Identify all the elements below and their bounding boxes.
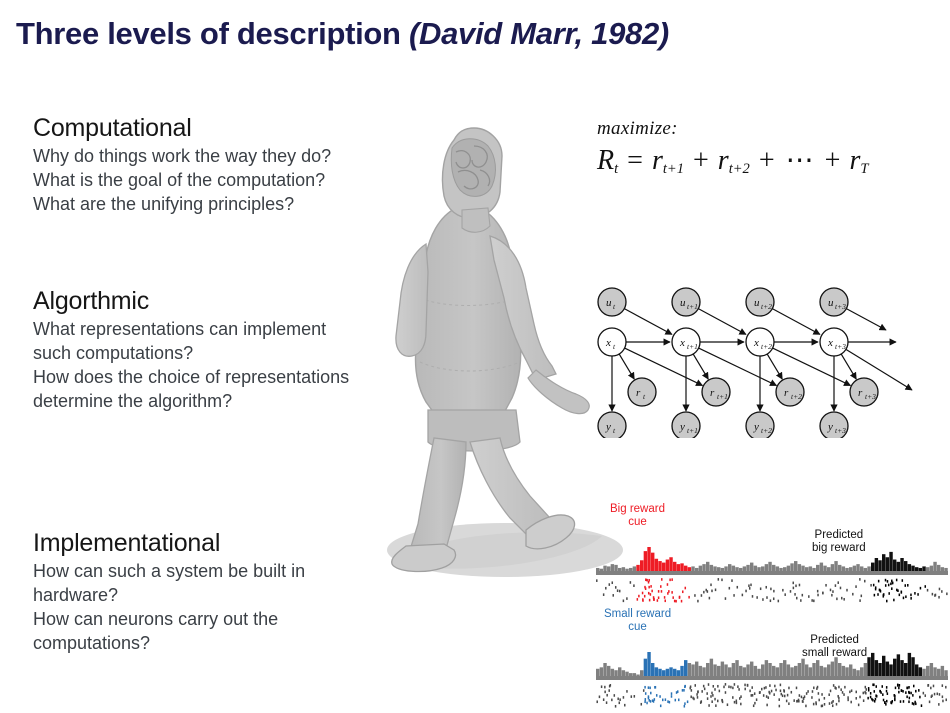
- histogram-bar: [713, 664, 716, 676]
- histogram-bar: [629, 673, 632, 676]
- equation-formula: Rt = rt+1 + rt+2 + ⋯ + rT: [597, 143, 868, 178]
- svg-text:t+3: t+3: [835, 302, 846, 311]
- histogram-bar: [926, 666, 929, 676]
- histogram-bar: [871, 653, 874, 676]
- histogram-bar: [625, 569, 628, 571]
- histogram-bar: [772, 565, 775, 571]
- histogram-bar: [933, 562, 936, 571]
- histogram-bar: [882, 554, 885, 571]
- level-heading-algorithmic: Algorthmic: [33, 287, 349, 316]
- histogram-bar: [754, 566, 757, 571]
- histogram-bar: [919, 667, 922, 676]
- histogram-bar: [713, 566, 716, 571]
- histogram-bar: [680, 666, 683, 676]
- graph-node-u-t+2: ut+2: [746, 288, 774, 316]
- histogram-bar: [691, 566, 694, 571]
- histogram-bar: [640, 670, 643, 676]
- equation-lhs-sub: t: [614, 161, 618, 177]
- histogram-bar: [882, 656, 885, 676]
- histogram-bar: [647, 652, 650, 676]
- histogram-bar: [937, 669, 940, 676]
- histogram-bar: [831, 564, 834, 571]
- histogram-bar: [603, 566, 606, 571]
- level-line: What is the goal of the computation?: [33, 169, 331, 193]
- histogram-bar: [669, 557, 672, 571]
- svg-text:y: y: [605, 421, 611, 433]
- histogram-bar: [651, 663, 654, 676]
- svg-text:r: r: [710, 387, 715, 399]
- histogram-bar: [644, 551, 647, 571]
- histogram-bar: [607, 566, 610, 571]
- histogram-bar: [926, 567, 929, 571]
- histogram-bar: [768, 562, 771, 571]
- histogram-bar: [618, 568, 621, 571]
- svg-text:t+3: t+3: [865, 392, 876, 401]
- histogram-bar: [875, 558, 878, 571]
- histogram-bar: [878, 663, 881, 676]
- level-block-algorithmic: Algorthmic What representations can impl…: [33, 287, 349, 414]
- graph-node-x-t: xt: [598, 328, 626, 356]
- histogram-bar: [944, 670, 947, 676]
- histogram-bar: [889, 552, 892, 571]
- histogram-bar: [900, 558, 903, 571]
- histogram-bar: [944, 568, 947, 571]
- histogram-bar: [834, 657, 837, 676]
- equation-area: maximize: Rt = rt+1 + rt+2 + ⋯ + rT: [597, 118, 868, 178]
- histogram-bar: [930, 663, 933, 676]
- histogram-bar: [812, 663, 815, 676]
- histogram-bar: [680, 563, 683, 571]
- histogram-bar: [702, 667, 705, 676]
- svg-text:t+1: t+1: [687, 342, 698, 351]
- histogram-bar: [710, 565, 713, 571]
- histogram-bar: [673, 562, 676, 571]
- histogram-bar: [666, 560, 669, 571]
- histogram-bar: [842, 566, 845, 571]
- level-line: such computations?: [33, 342, 349, 366]
- histogram-bar: [600, 569, 603, 571]
- histogram-bar: [677, 564, 680, 571]
- histogram-bar: [614, 565, 617, 571]
- histogram-bar: [827, 567, 830, 571]
- svg-text:t+2: t+2: [761, 342, 772, 351]
- histogram-bar: [787, 566, 790, 571]
- svg-text:x: x: [679, 337, 685, 349]
- histogram-bar: [900, 660, 903, 676]
- level-line: Why do things work the way they do?: [33, 145, 331, 169]
- histogram-bar: [827, 664, 830, 676]
- histogram-bar: [779, 568, 782, 571]
- histogram-bar: [794, 561, 797, 571]
- level-lines-algorithmic: What representations can implement such …: [33, 318, 349, 414]
- histogram-bar: [739, 666, 742, 676]
- histogram-bar: [933, 667, 936, 676]
- histogram-bar: [798, 564, 801, 571]
- histogram-bar: [629, 568, 632, 571]
- histogram-bar: [655, 559, 658, 571]
- histogram-bar: [864, 568, 867, 571]
- histogram-bar: [684, 660, 687, 676]
- equation-plus: +: [691, 145, 711, 176]
- histogram-bar: [596, 568, 599, 571]
- graph-node-r-t+2: rt+2: [776, 378, 804, 406]
- histogram-bar: [702, 564, 705, 571]
- histogram-bar: [776, 566, 779, 571]
- histogram-bar: [699, 666, 702, 676]
- level-block-computational: Computational Why do things work the way…: [33, 114, 331, 217]
- histogram-bar: [798, 663, 801, 676]
- svg-text:u: u: [754, 297, 760, 309]
- svg-text:t+2: t+2: [761, 302, 772, 311]
- level-line: determine the algorithm?: [33, 390, 349, 414]
- histogram-bar: [600, 667, 603, 676]
- histogram-bar: [695, 568, 698, 571]
- equation-term-var: r: [718, 145, 729, 176]
- histogram-bar: [695, 662, 698, 676]
- histogram-bar: [908, 653, 911, 676]
- histogram-bar: [809, 667, 812, 676]
- graph-node-y-t+2: yt+2: [746, 412, 774, 438]
- histogram-bar: [801, 566, 804, 571]
- histogram-bar: [922, 669, 925, 676]
- histogram-bar: [750, 563, 753, 571]
- histogram-bar: [721, 568, 724, 571]
- level-line: hardware?: [33, 584, 305, 608]
- histogram-bar: [750, 662, 753, 676]
- histogram-bar: [911, 657, 914, 676]
- equation-plus: +: [823, 145, 843, 176]
- histogram-bar: [941, 666, 944, 676]
- histogram-baseline: [596, 571, 948, 575]
- histogram-bar: [622, 670, 625, 676]
- histogram-bar: [717, 666, 720, 676]
- svg-text:x: x: [605, 337, 611, 349]
- histogram-bar: [886, 662, 889, 676]
- histogram-bar: [688, 663, 691, 676]
- histogram-bar: [908, 564, 911, 571]
- histogram-bar: [636, 675, 639, 677]
- histogram-bar: [614, 670, 617, 676]
- level-line: How can such a system be built in: [33, 560, 305, 584]
- histogram-bar: [607, 666, 610, 676]
- histogram-bar: [904, 561, 907, 571]
- histogram-bar: [860, 667, 863, 676]
- histogram-bar: [673, 669, 676, 676]
- histogram-bar: [754, 666, 757, 676]
- graphical-model-diagram: utut+1ut+2ut+3xtxt+1xt+2xt+3rtrt+1rt+2rt…: [596, 286, 948, 438]
- graph-node-u-t: ut: [598, 288, 626, 316]
- histogram-bar: [662, 670, 665, 676]
- equation-term-sub: t+2: [729, 161, 750, 177]
- graph-node-r-t: rt: [628, 378, 656, 406]
- histogram-bar: [611, 564, 614, 571]
- level-lines-computational: Why do things work the way they do? What…: [33, 145, 331, 217]
- page-title: Three levels of description (David Marr,…: [16, 16, 669, 52]
- level-heading-implementational: Implementational: [33, 529, 305, 558]
- page-title-attribution: (David Marr, 1982): [409, 16, 669, 51]
- histogram-bar: [922, 566, 925, 571]
- histogram-bar: [856, 564, 859, 571]
- graph-node-r-t+1: rt+1: [702, 378, 730, 406]
- histogram-bar: [721, 662, 724, 676]
- histogram-bar: [801, 659, 804, 676]
- walking-person-illustration: [370, 112, 630, 592]
- histogram-bar: [849, 567, 852, 571]
- histogram-bar: [706, 663, 709, 676]
- histogram-bar: [779, 663, 782, 676]
- histogram-bar: [636, 565, 639, 571]
- equation-term-var: r: [652, 145, 663, 176]
- histogram-bar: [845, 667, 848, 676]
- equation-ellipsis: ⋯: [784, 145, 816, 176]
- histogram-bar: [838, 565, 841, 571]
- svg-text:t+3: t+3: [835, 426, 846, 435]
- histogram-bar: [684, 566, 687, 571]
- histogram-bar: [743, 667, 746, 676]
- graph-node-x-t+1: xt+1: [672, 328, 700, 356]
- histogram-bar: [787, 664, 790, 676]
- histogram-bar: [622, 567, 625, 571]
- histogram-bar: [761, 664, 764, 676]
- histogram-bar: [761, 566, 764, 571]
- histogram-bar: [816, 565, 819, 571]
- histogram-bar: [867, 566, 870, 571]
- histogram-bar: [724, 566, 727, 571]
- histogram-bar: [625, 672, 628, 676]
- svg-text:t+1: t+1: [687, 426, 698, 435]
- equation-last-var: r: [849, 145, 860, 176]
- histogram-bar: [941, 567, 944, 571]
- level-line: How does the choice of representations: [33, 366, 349, 390]
- graph-node-x-t+3: xt+3: [820, 328, 848, 356]
- histogram-bar: [611, 669, 614, 676]
- histogram-bar: [772, 666, 775, 676]
- histogram-bar: [640, 560, 643, 571]
- level-line: How can neurons carry out the: [33, 608, 305, 632]
- histogram-bar: [930, 566, 933, 571]
- equation-equals: =: [625, 145, 645, 176]
- level-block-implementational: Implementational How can such a system b…: [33, 529, 305, 656]
- svg-text:u: u: [606, 297, 612, 309]
- histogram-bar: [893, 560, 896, 571]
- spike-histogram-small: [596, 652, 948, 710]
- svg-text:r: r: [636, 387, 641, 399]
- neural-panel-small-reward: Small reward cue Predicted small reward: [596, 608, 948, 708]
- histogram-bar: [706, 562, 709, 571]
- spike-histogram-big: [596, 547, 948, 605]
- graph-node-y-t+3: yt+3: [820, 412, 848, 438]
- svg-text:r: r: [784, 387, 789, 399]
- svg-text:t+3: t+3: [835, 342, 846, 351]
- histogram-bar: [849, 664, 852, 676]
- histogram-bar: [889, 664, 892, 676]
- histogram-baseline: [596, 676, 948, 680]
- histogram-bar: [886, 557, 889, 571]
- histogram-bar: [783, 567, 786, 571]
- histogram-bar: [724, 664, 727, 676]
- histogram-bar: [768, 663, 771, 676]
- histogram-bar: [860, 566, 863, 571]
- equation-plus: +: [757, 145, 777, 176]
- histogram-bar: [603, 663, 606, 676]
- histogram-bar: [816, 660, 819, 676]
- histogram-bar: [717, 567, 720, 571]
- level-line: computations?: [33, 632, 305, 656]
- histogram-bar: [728, 667, 731, 676]
- histogram-bar: [790, 563, 793, 571]
- histogram-bar: [669, 667, 672, 676]
- histogram-bar: [644, 659, 647, 676]
- histogram-bar: [735, 567, 738, 571]
- histogram-bar: [853, 669, 856, 676]
- histogram-bar: [757, 567, 760, 571]
- histogram-bar: [735, 660, 738, 676]
- brain-icon: [451, 139, 495, 197]
- histogram-bar: [809, 566, 812, 571]
- graph-node-x-t+2: xt+2: [746, 328, 774, 356]
- svg-text:t+1: t+1: [687, 302, 698, 311]
- histogram-bar: [618, 667, 621, 676]
- equation-term-sub: t+1: [663, 161, 684, 177]
- histogram-bar: [732, 663, 735, 676]
- graph-node-u-t+3: ut+3: [820, 288, 848, 316]
- graph-node-y-t+1: yt+1: [672, 412, 700, 438]
- cue-label-big-reward: Big reward cue: [610, 503, 665, 529]
- level-line: What are the unifying principles?: [33, 193, 331, 217]
- histogram-bar: [867, 657, 870, 676]
- histogram-bar: [691, 664, 694, 676]
- histogram-bar: [878, 560, 881, 571]
- histogram-bar: [842, 666, 845, 676]
- histogram-bar: [911, 566, 914, 571]
- histogram-bar: [633, 566, 636, 571]
- histogram-bar: [677, 670, 680, 676]
- histogram-bar: [655, 667, 658, 676]
- equation-label: maximize:: [597, 118, 868, 140]
- histogram-bar: [783, 660, 786, 676]
- svg-text:r: r: [858, 387, 863, 399]
- histogram-bar: [651, 553, 654, 571]
- histogram-bar: [633, 673, 636, 676]
- level-line: What representations can implement: [33, 318, 349, 342]
- histogram-bar: [596, 669, 599, 676]
- svg-text:x: x: [753, 337, 759, 349]
- histogram-bar: [834, 561, 837, 571]
- histogram-bar: [893, 659, 896, 676]
- cue-label-small-reward: Small reward cue: [604, 608, 671, 634]
- histogram-bar: [820, 666, 823, 676]
- histogram-bar: [790, 667, 793, 676]
- histogram-bar: [805, 664, 808, 676]
- svg-text:x: x: [827, 337, 833, 349]
- histogram-bar: [776, 667, 779, 676]
- svg-text:t+1: t+1: [717, 392, 728, 401]
- graph-node-r-t+3: rt+3: [850, 378, 878, 406]
- equation-lhs-var: R: [597, 145, 614, 176]
- histogram-bar: [666, 669, 669, 676]
- svg-text:y: y: [679, 421, 685, 433]
- histogram-bar: [897, 654, 900, 676]
- histogram-bar: [937, 565, 940, 571]
- histogram-bar: [746, 664, 749, 676]
- histogram-bar: [699, 566, 702, 571]
- svg-text:y: y: [827, 421, 833, 433]
- histogram-bar: [831, 662, 834, 676]
- histogram-bar: [919, 568, 922, 571]
- histogram-bar: [875, 660, 878, 676]
- histogram-bar: [915, 567, 918, 571]
- histogram-bar: [845, 568, 848, 571]
- histogram-bar: [765, 564, 768, 571]
- histogram-bar: [662, 563, 665, 571]
- histogram-bar: [856, 670, 859, 676]
- histogram-bar: [658, 561, 661, 571]
- histogram-bar: [820, 563, 823, 571]
- histogram-bar: [897, 562, 900, 571]
- histogram-bar: [823, 667, 826, 676]
- svg-text:t+2: t+2: [761, 426, 772, 435]
- level-lines-implementational: How can such a system be built in hardwa…: [33, 560, 305, 656]
- spike-raster: [596, 578, 948, 602]
- svg-text:u: u: [680, 297, 686, 309]
- equation-last-sub: T: [860, 161, 868, 177]
- svg-text:u: u: [828, 297, 834, 309]
- histogram-bar: [794, 666, 797, 676]
- histogram-bar: [739, 568, 742, 571]
- histogram-bar: [853, 566, 856, 571]
- histogram-bar: [746, 565, 749, 571]
- histogram-bar: [823, 566, 826, 571]
- level-heading-computational: Computational: [33, 114, 331, 143]
- histogram-bar: [871, 563, 874, 571]
- histogram-bar: [765, 660, 768, 676]
- histogram-bar: [710, 659, 713, 676]
- svg-text:t+2: t+2: [791, 392, 802, 401]
- graph-node-y-t: yt: [598, 412, 626, 438]
- histogram-bar: [743, 566, 746, 571]
- histogram-bar: [732, 566, 735, 571]
- histogram-bar: [805, 567, 808, 571]
- histogram-bar: [915, 664, 918, 676]
- svg-text:y: y: [753, 421, 759, 433]
- histogram-bar: [838, 663, 841, 676]
- histogram-bar: [864, 663, 867, 676]
- histogram-bar: [757, 669, 760, 676]
- histogram-bar: [647, 547, 650, 571]
- histogram-bar: [658, 669, 661, 676]
- graph-node-u-t+1: ut+1: [672, 288, 700, 316]
- spike-raster: [596, 683, 947, 708]
- histogram-bar: [728, 564, 731, 571]
- histogram-bar: [904, 663, 907, 676]
- neural-panel-big-reward: Big reward cue Predicted big reward: [596, 503, 948, 603]
- histogram-bar: [812, 568, 815, 571]
- histogram-bar: [688, 567, 691, 571]
- page-title-main: Three levels of description: [16, 16, 409, 51]
